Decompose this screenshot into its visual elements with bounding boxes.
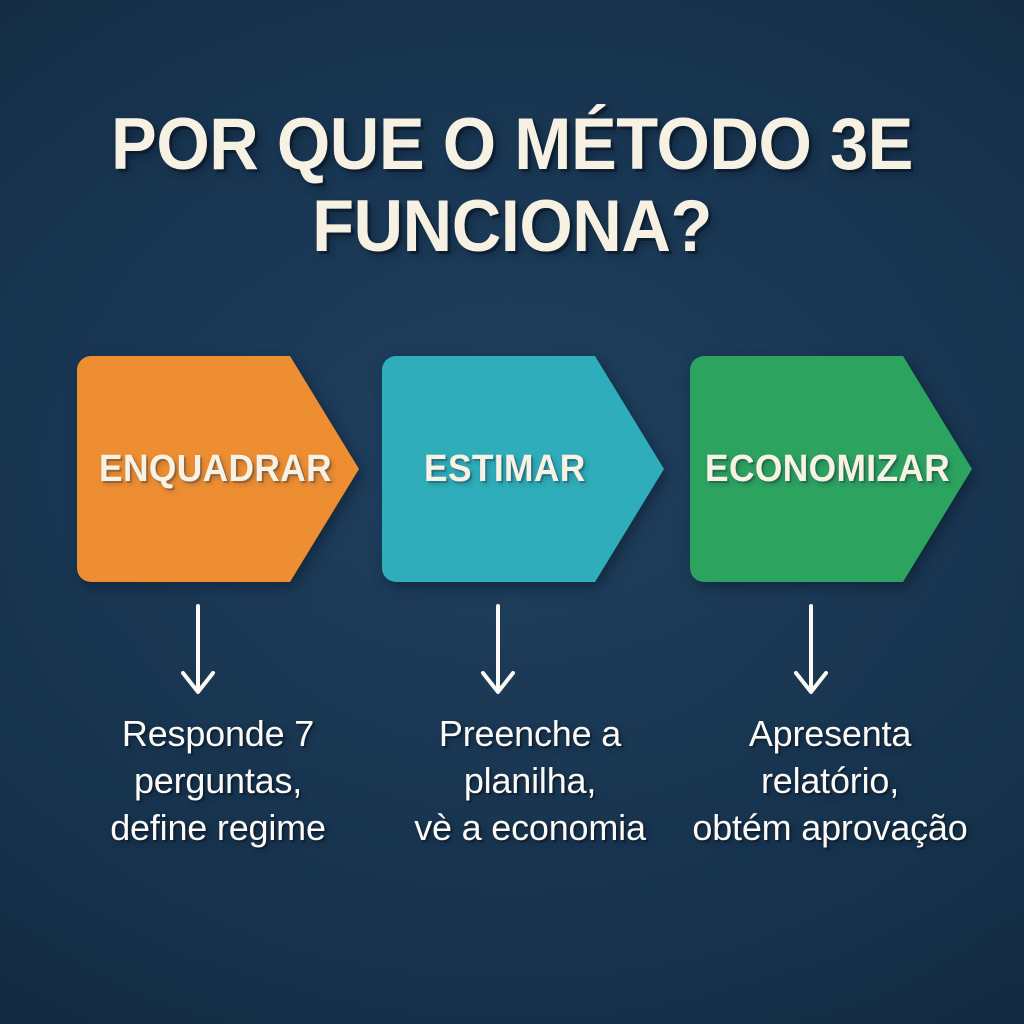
step-caption-estimar: Preenche a planilha, vè a economia (370, 710, 690, 851)
caption-line: Preenche a (370, 710, 690, 757)
step-caption-economizar: Apresenta relatório, obtém aprovação (670, 710, 990, 851)
process-chevron-row: ENQUADRAR ESTIMAR ECONOMIZAR (77, 356, 977, 582)
caption-line: Responde 7 (58, 710, 378, 757)
caption-line: define regime (58, 804, 378, 851)
process-step-estimar[interactable]: ESTIMAR (382, 356, 664, 582)
process-step-label: ECONOMIZAR (705, 448, 950, 491)
caption-line: relatório, (670, 757, 990, 804)
process-step-label: ESTIMAR (424, 448, 586, 491)
caption-line: Apresenta (670, 710, 990, 757)
title-line-1: POR QUE O MÉTODO 3E (31, 104, 994, 186)
step-captions-row: Responde 7 perguntas, define regime Pree… (40, 710, 984, 870)
infographic-poster: POR QUE O MÉTODO 3E FUNCIONA? ENQUADRAR … (0, 0, 1024, 1024)
title-line-2: FUNCIONA? (31, 186, 994, 268)
caption-line: obtém aprovação (670, 804, 990, 851)
step-caption-enquadrar: Responde 7 perguntas, define regime (58, 710, 378, 851)
page-title: POR QUE O MÉTODO 3E FUNCIONA? (0, 104, 1024, 268)
caption-line: perguntas, (58, 757, 378, 804)
arrow-down-icon-step-3 (789, 604, 833, 696)
process-step-enquadrar[interactable]: ENQUADRAR (77, 356, 359, 582)
process-step-economizar[interactable]: ECONOMIZAR (690, 356, 972, 582)
arrow-down-icon-step-1 (176, 604, 220, 696)
arrow-down-icon-step-2 (476, 604, 520, 696)
process-step-label: ENQUADRAR (99, 448, 332, 491)
caption-line: planilha, (370, 757, 690, 804)
caption-line: vè a economia (370, 804, 690, 851)
